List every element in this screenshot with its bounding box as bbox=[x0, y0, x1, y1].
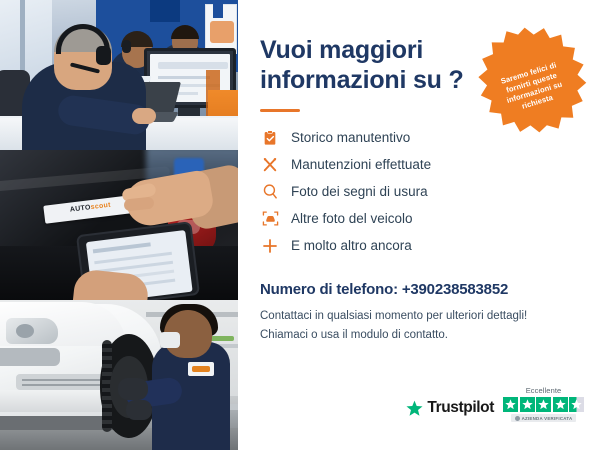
list-item: E molto altro ancora bbox=[261, 232, 578, 259]
car-grille-upper bbox=[0, 348, 60, 366]
magnifier-icon bbox=[261, 183, 279, 201]
star-half bbox=[569, 397, 584, 412]
verified-check-icon bbox=[515, 416, 520, 421]
screen-row bbox=[158, 76, 210, 79]
uniform-logo bbox=[188, 362, 214, 376]
verified-label: AZIENDA VERIFICATA bbox=[522, 416, 573, 421]
trustpilot-star-icon bbox=[406, 400, 423, 417]
list-item-label: Foto dei segni di usura bbox=[291, 184, 428, 199]
star-filled bbox=[503, 397, 518, 412]
list-item: Manutenzioni effettuate bbox=[261, 151, 578, 178]
feature-list: Storico manutentivo Manutenzioni effettu… bbox=[261, 124, 578, 259]
list-item-label: E molto altro ancora bbox=[291, 238, 412, 253]
trustpilot-widget[interactable]: Trustpilot Eccellente AZIENDA VERIFICATA bbox=[406, 386, 584, 422]
list-item-label: Manutenzioni effettuate bbox=[291, 157, 431, 172]
tools-cross-icon bbox=[261, 156, 279, 174]
star-filled bbox=[520, 397, 535, 412]
clipboard-check-icon bbox=[261, 129, 279, 147]
contact-instructions: Contattaci in qualsiasi momento per ulte… bbox=[260, 307, 578, 344]
call-center-photo bbox=[0, 0, 238, 150]
badge-text: Saremo felici di fornirti queste informa… bbox=[491, 58, 575, 119]
mechanic-glove bbox=[126, 400, 152, 420]
callout-badge: Saremo felici di fornirti queste informa… bbox=[471, 19, 593, 141]
workshop-wheel-photo bbox=[0, 300, 238, 450]
headset-icon bbox=[471, 31, 493, 52]
trustpilot-rating-block: Eccellente AZIENDA VERIFICATA bbox=[503, 386, 584, 422]
mechanic-glove bbox=[118, 378, 148, 400]
list-item: Altre foto del veicolo bbox=[261, 205, 578, 232]
wall-poster-banner bbox=[213, 0, 223, 18]
photo-column: AUTOscout bbox=[0, 0, 238, 450]
list-item-label: Altre foto del veicolo bbox=[291, 211, 413, 226]
contact-line-2: Chiamaci o usa il modulo di contatto. bbox=[260, 326, 578, 345]
list-item-label: Storico manutentivo bbox=[291, 130, 410, 145]
coworker-headset bbox=[122, 40, 131, 53]
star-filled bbox=[536, 397, 551, 412]
vehicle-inspection-photo: AUTOscout bbox=[0, 150, 238, 300]
agent-hand bbox=[132, 108, 156, 124]
list-item: Foto dei segni di usura bbox=[261, 178, 578, 205]
promo-banner: AUTOscout bbox=[0, 0, 600, 450]
verified-badge: AZIENDA VERIFICATA bbox=[511, 414, 577, 422]
headset-earcup bbox=[96, 46, 111, 65]
face-mask bbox=[160, 332, 180, 348]
car-front-bumper bbox=[0, 390, 114, 412]
car-headlight bbox=[6, 318, 58, 344]
phone-number[interactable]: Numero di telefono: +390238583852 bbox=[260, 281, 578, 298]
car-scan-icon bbox=[261, 210, 279, 228]
page-title: Vuoi maggiori informazioni su ? bbox=[260, 36, 475, 95]
badge-inner: Saremo felici di fornirti queste informa… bbox=[471, 19, 593, 141]
rating-label: Eccellente bbox=[526, 386, 562, 395]
screen-toolbar bbox=[158, 62, 228, 69]
star-filled bbox=[553, 397, 568, 412]
car-grille-lower bbox=[16, 374, 112, 390]
content-panel: Vuoi maggiori informazioni su ? Storico … bbox=[238, 0, 600, 450]
blue-wall-accent bbox=[150, 0, 180, 22]
trustpilot-name: Trustpilot bbox=[427, 399, 494, 417]
rating-stars bbox=[503, 397, 584, 412]
trustpilot-logo: Trustpilot bbox=[406, 399, 494, 422]
title-divider bbox=[260, 109, 300, 112]
contact-line-1: Contattaci in qualsiasi momento per ulte… bbox=[260, 307, 578, 326]
plus-icon bbox=[261, 237, 279, 255]
